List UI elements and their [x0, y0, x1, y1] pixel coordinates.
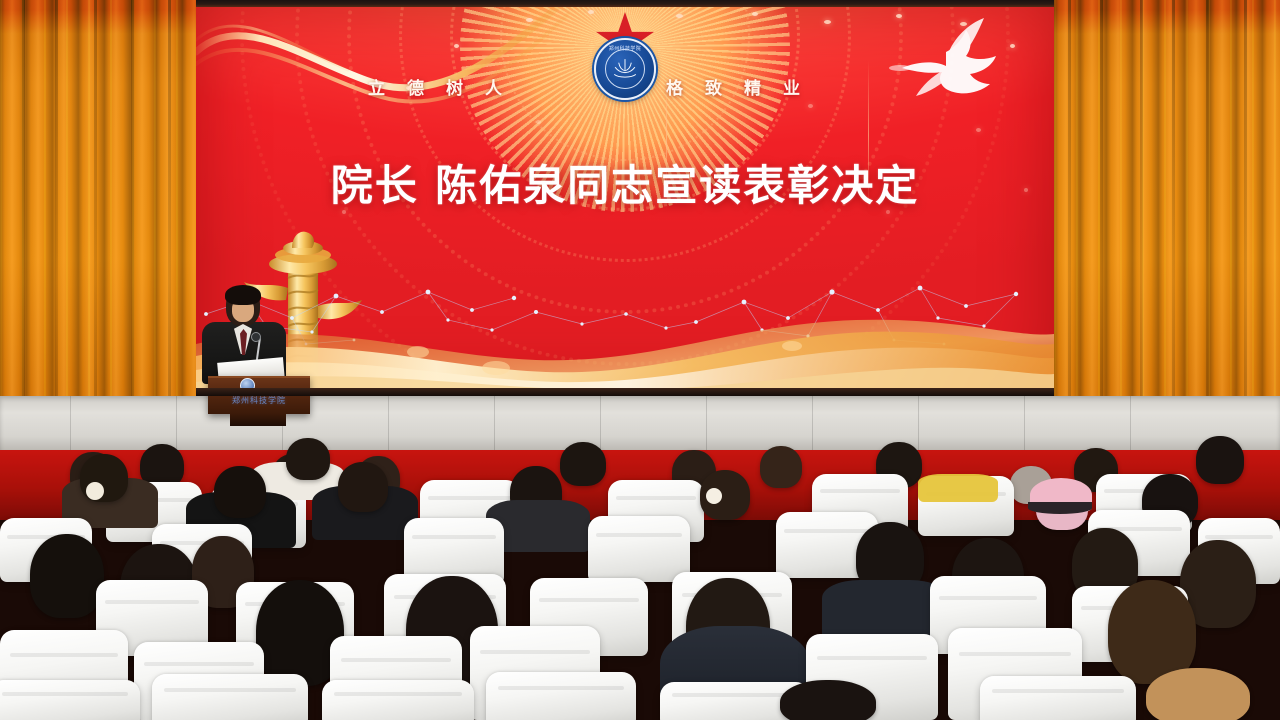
- slogan-right-char-3: 业: [783, 74, 800, 99]
- speaker-hair: [225, 285, 261, 305]
- white-dove-icon: [886, 10, 1016, 118]
- school-emblem-icon: 郑州科技学院: [594, 38, 656, 100]
- microphone-icon: [251, 332, 261, 342]
- attendee-yellow-scarf: [918, 474, 998, 502]
- slogan-right-char-1: 致: [705, 74, 722, 99]
- slogan-right-char-2: 精: [744, 74, 761, 99]
- emblem-lotus-icon: [607, 51, 643, 87]
- led-screen-bezel-top: [196, 0, 1054, 7]
- podium-base: [230, 414, 286, 426]
- emblem-ring-text: 郑州科技学院: [596, 45, 654, 52]
- led-screen-bezel-bottom: [196, 388, 1054, 396]
- slogan-left-char-0: 立: [368, 74, 385, 99]
- slogan-left-char-3: 人: [485, 74, 502, 99]
- slogan-right-char-0: 格: [666, 74, 683, 99]
- slogan-left-char-2: 树: [446, 74, 463, 99]
- auditorium-scene: 郑州科技学院 立 德 树: [0, 0, 1280, 720]
- headline-text: 院长 陈佑泉同志宣读表彰决定: [196, 152, 1054, 213]
- podium-and-speaker: 郑州科技学院: [196, 286, 326, 416]
- hair-clip-white: [86, 482, 104, 500]
- audience-seating-area: [0, 430, 1280, 720]
- slogan-left: 立 德 树 人: [368, 74, 502, 99]
- slogan-right: 格 致 精 业: [666, 74, 800, 99]
- hair-clip-white-2: [706, 488, 722, 504]
- emblem-inner-device: [605, 49, 645, 89]
- podium-front-text: 郑州科技学院: [208, 395, 310, 406]
